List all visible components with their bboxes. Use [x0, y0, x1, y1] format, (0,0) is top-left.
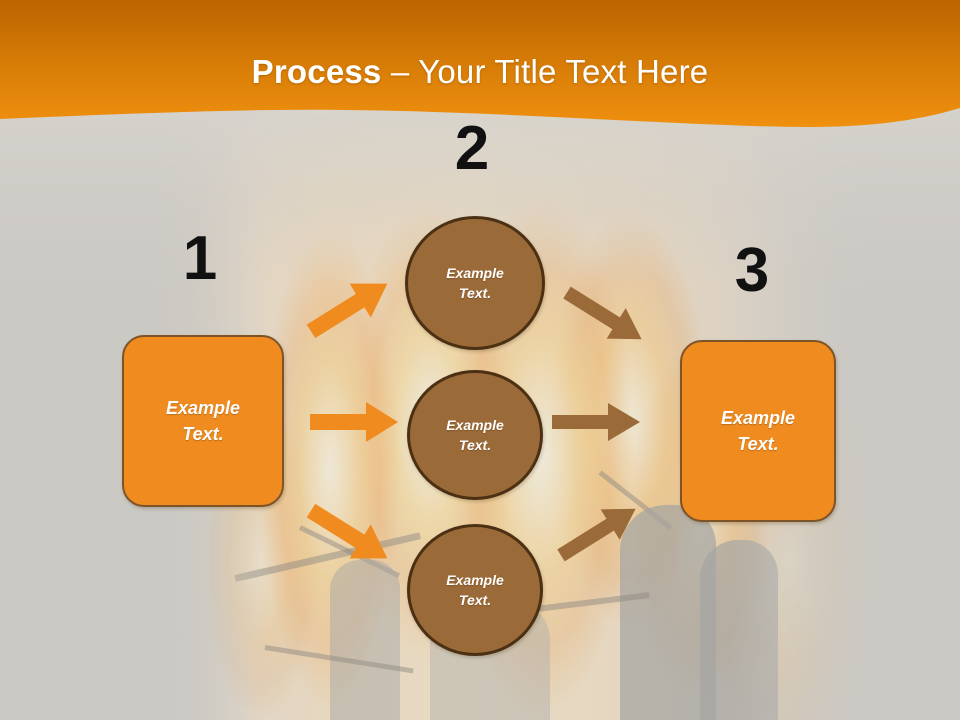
label-line-1: Example	[166, 398, 240, 418]
process-box-left-label: Example Text.	[166, 395, 240, 447]
process-box-right-label: Example Text.	[721, 405, 795, 457]
process-circle-top[interactable]: Example Text.	[405, 216, 545, 350]
process-circle-top-label: Example Text.	[446, 263, 504, 304]
label-line-2: Text.	[459, 592, 491, 608]
step-number-2: 2	[432, 118, 512, 180]
label-line-2: Text.	[737, 434, 778, 454]
step-number-1: 1	[160, 228, 240, 290]
process-box-left[interactable]: Example Text.	[122, 335, 284, 507]
slide-canvas: Process – Your Title Text Here 1 2 3 Exa…	[0, 0, 960, 720]
label-line-2: Text.	[459, 285, 491, 301]
label-line-2: Text.	[459, 437, 491, 453]
page-title-strong: Process	[252, 53, 382, 90]
process-circle-bottom[interactable]: Example Text.	[407, 524, 543, 656]
label-line-2: Text.	[182, 424, 223, 444]
page-title: Process – Your Title Text Here	[0, 52, 960, 92]
label-line-1: Example	[446, 265, 504, 281]
process-box-right[interactable]: Example Text.	[680, 340, 836, 522]
label-line-1: Example	[446, 572, 504, 588]
page-title-rest: – Your Title Text Here	[381, 53, 708, 90]
process-circle-bottom-label: Example Text.	[446, 570, 504, 611]
process-circle-middle-label: Example Text.	[446, 415, 504, 456]
label-line-1: Example	[721, 408, 795, 428]
process-circle-middle[interactable]: Example Text.	[407, 370, 543, 500]
label-line-1: Example	[446, 417, 504, 433]
step-number-3: 3	[712, 240, 792, 302]
